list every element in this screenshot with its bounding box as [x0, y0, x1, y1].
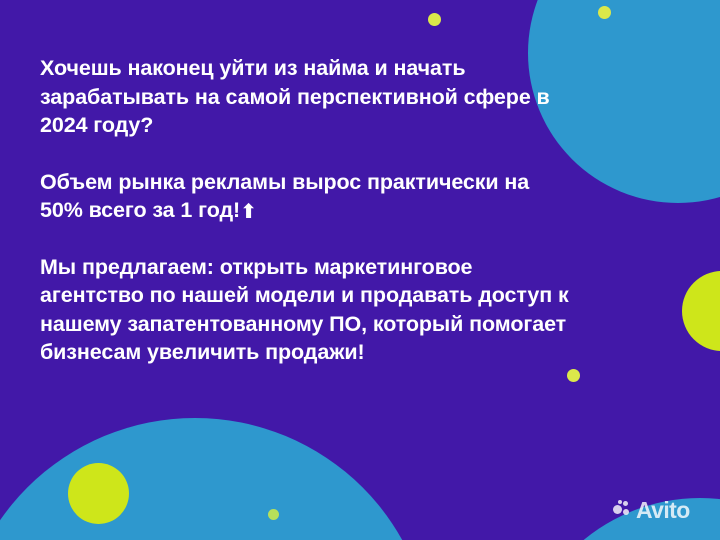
avito-watermark: Avito: [613, 500, 690, 520]
paragraph-market-growth: Объем рынка рекламы вырос практически на…: [40, 168, 570, 225]
avito-brand-label: Avito: [636, 500, 690, 520]
avito-dots-icon: [613, 500, 633, 520]
paragraph-question: Хочешь наконец уйти из найма и начать за…: [40, 54, 570, 140]
promo-poster: Хочешь наконец уйти из найма и начать за…: [0, 0, 720, 540]
yellow-dot-middle-right: [567, 369, 580, 382]
yellow-dot-top-right: [598, 6, 611, 19]
yellow-dot-bottom-center: [268, 509, 279, 520]
arrow-up-icon: ⬆: [240, 202, 257, 222]
poster-copy: Хочешь наконец уйти из найма и начать за…: [40, 54, 570, 367]
blue-circle-bottom-left: [0, 418, 432, 540]
yellow-dot-top-center: [428, 13, 441, 26]
lime-circle-right-edge: [682, 271, 720, 351]
paragraph-offer: Мы предлагаем: открыть маркетинговое аге…: [40, 253, 570, 367]
paragraph-market-growth-text: Объем рынка рекламы вырос практически на…: [40, 170, 529, 223]
lime-circle-bottom-left: [68, 463, 129, 524]
